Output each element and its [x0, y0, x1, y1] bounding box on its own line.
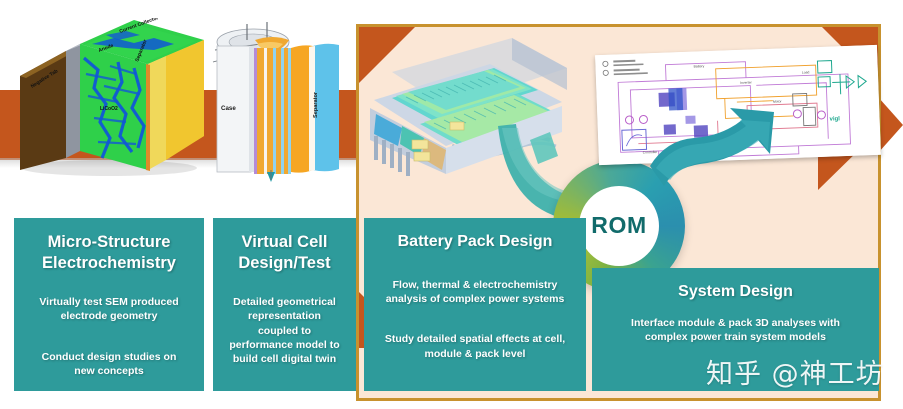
panel-battery-pack-design[interactable]: Battery Pack Design Flow, thermal & elec… — [364, 218, 586, 391]
micro-structure-electrode-cube: Current Collector Anode Separator Negati… — [14, 18, 204, 178]
rom-to-system-arrow — [650, 100, 795, 220]
cylindrical-cell-cutaway: Case Separator — [205, 18, 345, 183]
svg-text:Separator: Separator — [313, 91, 319, 118]
panel-body-block: Conduct design studies on new concepts — [24, 350, 194, 378]
svg-text:vigl: vigl — [829, 116, 840, 122]
panel-micro-structure-electrochemistry[interactable]: Micro-Structure Electrochemistry Virtual… — [14, 218, 204, 391]
panel-body-block: Flow, thermal & electrochemistry analysi… — [374, 278, 576, 306]
svg-text:Battery: Battery — [693, 64, 704, 68]
panel-body-block: Virtually test SEM produced electrode ge… — [24, 295, 194, 323]
panel-title: Virtual Cell Design/Test — [223, 232, 346, 273]
panel-body-block: Study detailed spatial effects at cell, … — [374, 332, 576, 360]
panel-virtual-cell-design-test[interactable]: Virtual Cell Design/Test Detailed geomet… — [213, 218, 356, 391]
panel-body-block: Detailed geometrical representation coup… — [223, 295, 346, 366]
svg-text:LiCoO2: LiCoO2 — [100, 106, 118, 112]
svg-text:Load: Load — [802, 70, 810, 74]
panel-title: System Design — [602, 282, 869, 302]
panel-body-block: Interface module & pack 3D analyses with… — [602, 316, 869, 344]
watermark: 知乎 @神工坊 — [706, 352, 884, 391]
diagram-canvas: Current Collector Anode Separator Negati… — [0, 0, 903, 409]
panel-title: Battery Pack Design — [374, 232, 576, 252]
svg-text:Inverter: Inverter — [740, 80, 753, 84]
panel-title: Micro-Structure Electrochemistry — [24, 232, 194, 273]
svg-text:Case: Case — [221, 105, 236, 112]
